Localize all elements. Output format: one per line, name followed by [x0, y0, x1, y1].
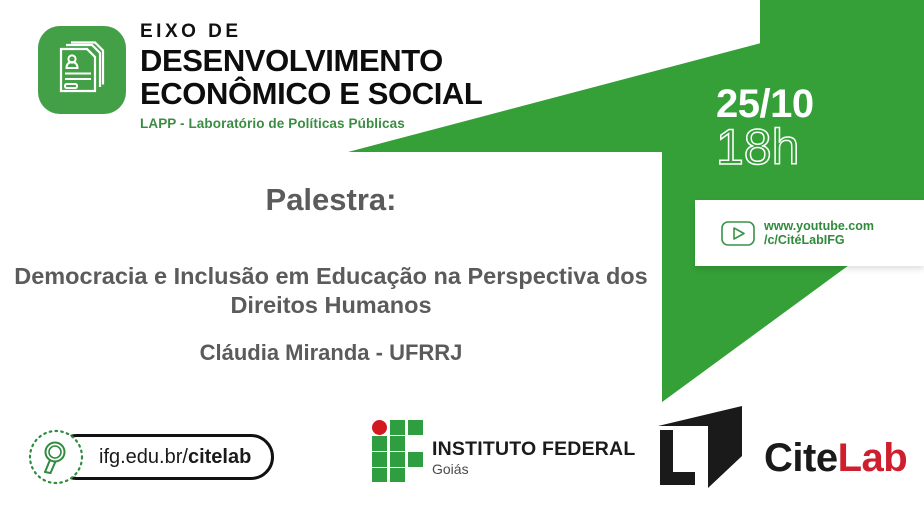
title-line-2: ECONÔMICO E SOCIAL	[140, 77, 482, 110]
instituto-federal-name: INSTITUTO FEDERAL	[432, 440, 635, 460]
instituto-federal-logo: INSTITUTO FEDERAL Goiás	[372, 420, 635, 482]
event-date: 25/10	[716, 84, 896, 124]
eixo-header: EIXO DE DESENVOLVIMENTO ECONÔMICO E SOCI…	[38, 22, 482, 130]
document-person-icon	[38, 26, 126, 114]
speaker-name: Cláudia Miranda - UFRRJ	[0, 340, 662, 366]
citelab-logo: CiteLab	[650, 404, 907, 490]
talk-title: Democracia e Inclusão em Educação na Per…	[0, 262, 662, 321]
youtube-url: www.youtube.com /c/CitéLabIFG	[764, 219, 874, 248]
ifg-pill-outline[interactable]: ifg.edu.br/citelab	[54, 434, 274, 480]
citelab-word-cite: Cite	[764, 436, 838, 480]
eyebrow-text: EIXO DE	[140, 22, 482, 41]
event-date-block: 25/10 18h	[716, 84, 896, 173]
lapp-subtitle: LAPP - Laboratório de Políticas Públicas	[140, 117, 482, 131]
ifg-url-plain: ifg.edu.br/	[99, 446, 188, 468]
palestra-label: Palestra:	[0, 182, 662, 218]
poster-canvas: EIXO DE DESENVOLVIMENTO ECONÔMICO E SOCI…	[0, 0, 924, 520]
citelab-mark-icon	[650, 404, 762, 490]
magnifier-icon	[28, 429, 84, 485]
ifg-url-bold: citelab	[188, 446, 251, 468]
play-icon	[721, 221, 755, 246]
instituto-federal-state: Goiás	[432, 462, 635, 476]
instituto-federal-grid-icon	[372, 420, 424, 482]
youtube-card[interactable]: www.youtube.com /c/CitéLabIFG	[695, 200, 924, 266]
citelab-word-lab: Lab	[838, 436, 908, 480]
ifg-url-badge[interactable]: ifg.edu.br/citelab	[28, 427, 274, 487]
title-line-1: DESENVOLVIMENTO	[140, 44, 482, 77]
citelab-wordmark: CiteLab	[764, 438, 907, 490]
ifg-url-text: ifg.edu.br/citelab	[99, 446, 251, 469]
event-time: 18h	[716, 122, 896, 173]
